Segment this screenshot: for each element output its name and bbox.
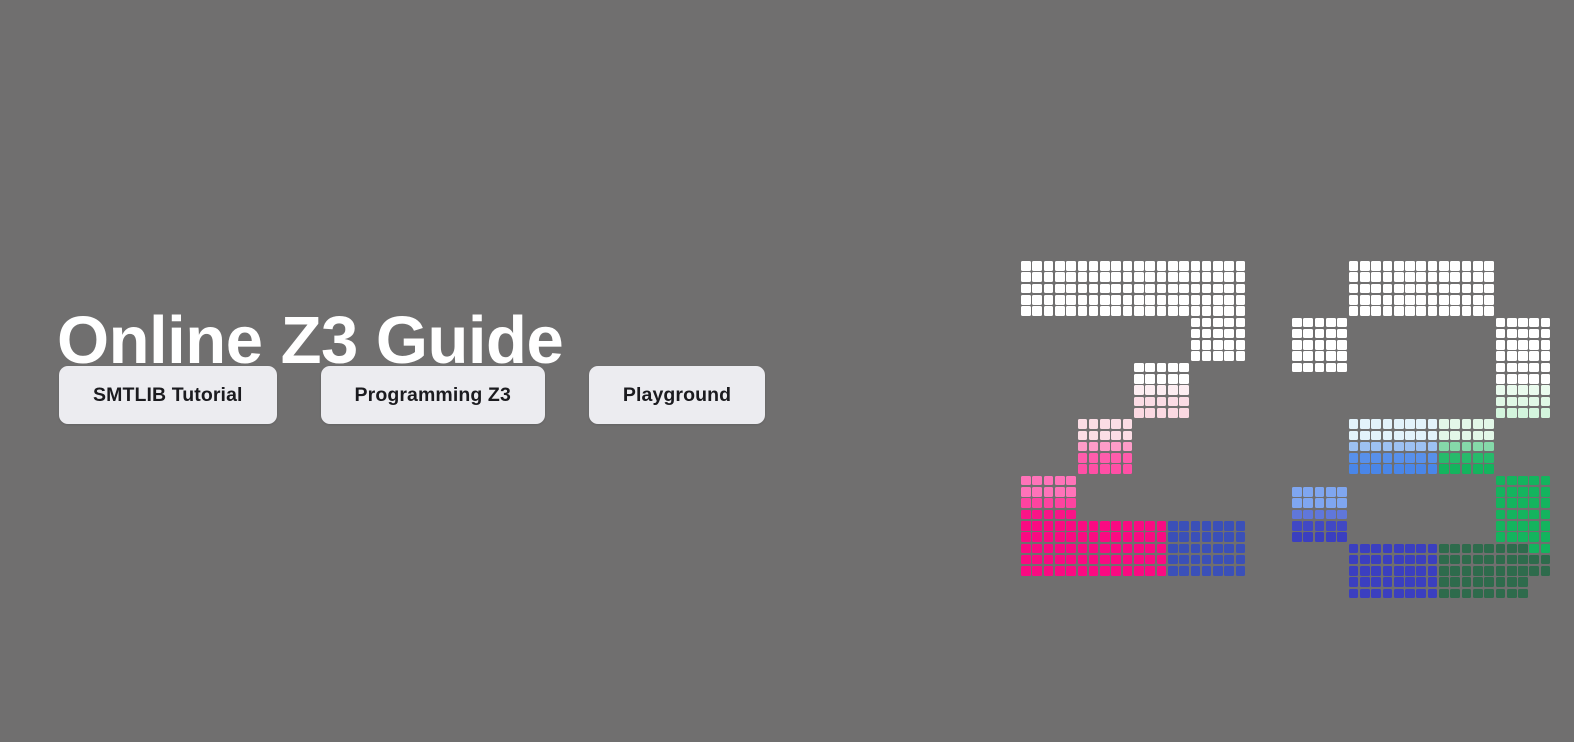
logo-pixel (1360, 295, 1370, 305)
logo-pixel (1055, 498, 1065, 508)
logo-pixel (1428, 544, 1438, 554)
logo-pixel (1078, 464, 1088, 474)
programming-z3-button-label: Programming Z3 (355, 384, 511, 407)
logo-pixel (1529, 544, 1539, 554)
logo-pixel (1224, 544, 1234, 554)
logo-pixel (1055, 295, 1065, 305)
logo-pixel (1541, 408, 1551, 418)
logo-pixel (1145, 295, 1155, 305)
logo-pixel (1496, 487, 1506, 497)
logo-pixel (1111, 555, 1121, 565)
logo-pixel (1507, 566, 1517, 576)
logo-pixel (1055, 272, 1065, 282)
logo-pixel (1462, 272, 1472, 282)
logo-pixel (1123, 442, 1133, 452)
logo-pixel (1111, 464, 1121, 474)
playground-button[interactable]: Playground (589, 366, 765, 424)
logo-pixel (1507, 544, 1517, 554)
logo-pixel (1416, 544, 1426, 554)
logo-pixel (1383, 544, 1393, 554)
logo-pixel (1507, 521, 1517, 531)
logo-pixel (1450, 306, 1460, 316)
logo-pixel (1496, 385, 1506, 395)
logo-pixel (1450, 295, 1460, 305)
logo-pixel (1100, 295, 1110, 305)
logo-pixel (1145, 532, 1155, 542)
logo-pixel (1529, 566, 1539, 576)
logo-pixel (1100, 464, 1110, 474)
logo-pixel (1518, 397, 1528, 407)
logo-pixel (1100, 306, 1110, 316)
logo-pixel (1541, 340, 1551, 350)
logo-pixel (1349, 464, 1359, 474)
logo-pixel (1473, 419, 1483, 429)
logo-pixel (1484, 453, 1494, 463)
logo-pixel (1496, 363, 1506, 373)
logo-pixel (1303, 351, 1313, 361)
logo-pixel (1507, 510, 1517, 520)
logo-pixel (1507, 498, 1517, 508)
logo-pixel (1394, 284, 1404, 294)
logo-pixel (1145, 272, 1155, 282)
logo-pixel (1484, 419, 1494, 429)
logo-pixel (1202, 532, 1212, 542)
logo-pixel (1529, 498, 1539, 508)
logo-pixel (1462, 464, 1472, 474)
logo-pixel (1518, 351, 1528, 361)
logo-pixel (1032, 295, 1042, 305)
logo-pixel (1360, 419, 1370, 429)
logo-pixel (1484, 566, 1494, 576)
logo-pixel (1496, 374, 1506, 384)
logo-pixel (1462, 589, 1472, 599)
logo-pixel (1089, 532, 1099, 542)
logo-pixel (1213, 295, 1223, 305)
logo-pixel (1541, 351, 1551, 361)
logo-pixel (1507, 577, 1517, 587)
logo-pixel (1484, 544, 1494, 554)
logo-pixel (1315, 351, 1325, 361)
logo-pixel (1462, 577, 1472, 587)
logo-pixel (1179, 521, 1189, 531)
logo-pixel (1134, 363, 1144, 373)
logo-pixel (1541, 318, 1551, 328)
logo-pixel (1066, 261, 1076, 271)
logo-pixel (1055, 487, 1065, 497)
logo-pixel (1224, 351, 1234, 361)
logo-pixel (1202, 329, 1212, 339)
logo-pixel (1541, 385, 1551, 395)
logo-pixel (1315, 521, 1325, 531)
logo-pixel (1416, 261, 1426, 271)
logo-pixel (1541, 329, 1551, 339)
logo-pixel (1100, 431, 1110, 441)
logo-pixel (1145, 521, 1155, 531)
logo-pixel (1518, 577, 1528, 587)
logo-pixel (1450, 577, 1460, 587)
logo-pixel (1360, 555, 1370, 565)
logo-pixel (1134, 408, 1144, 418)
logo-pixel (1529, 408, 1539, 418)
logo-pixel (1044, 532, 1054, 542)
logo-pixel (1032, 532, 1042, 542)
logo-pixel (1518, 487, 1528, 497)
logo-pixel (1066, 521, 1076, 531)
logo-pixel (1078, 555, 1088, 565)
logo-pixel (1428, 261, 1438, 271)
logo-pixel (1473, 589, 1483, 599)
logo-pixel (1518, 408, 1528, 418)
logo-pixel (1213, 329, 1223, 339)
logo-pixel (1326, 329, 1336, 339)
logo-pixel (1326, 340, 1336, 350)
logo-pixel (1044, 566, 1054, 576)
logo-pixel (1066, 566, 1076, 576)
logo-pixel (1529, 385, 1539, 395)
logo-pixel (1191, 261, 1201, 271)
logo-pixel (1450, 566, 1460, 576)
logo-pixel (1428, 577, 1438, 587)
logo-pixel (1371, 419, 1381, 429)
logo-pixel (1021, 566, 1031, 576)
logo-pixel (1541, 510, 1551, 520)
logo-pixel (1123, 419, 1133, 429)
logo-pixel (1484, 431, 1494, 441)
logo-pixel (1191, 544, 1201, 554)
logo-pixel (1179, 566, 1189, 576)
logo-pixel (1213, 521, 1223, 531)
logo-pixel (1518, 329, 1528, 339)
logo-pixel (1383, 589, 1393, 599)
logo-pixel (1078, 566, 1088, 576)
logo-pixel (1123, 566, 1133, 576)
logo-pixel (1405, 419, 1415, 429)
logo-pixel (1450, 442, 1460, 452)
logo-pixel (1292, 487, 1302, 497)
logo-pixel (1462, 566, 1472, 576)
logo-pixel (1292, 340, 1302, 350)
logo-pixel (1134, 272, 1144, 282)
logo-pixel (1383, 555, 1393, 565)
logo-pixel (1394, 295, 1404, 305)
logo-pixel (1315, 340, 1325, 350)
logo-pixel (1326, 318, 1336, 328)
logo-pixel (1191, 284, 1201, 294)
logo-pixel (1507, 363, 1517, 373)
logo-pixel (1450, 431, 1460, 441)
logo-pixel (1450, 261, 1460, 271)
logo-pixel (1213, 318, 1223, 328)
logo-pixel (1179, 261, 1189, 271)
logo-pixel (1066, 306, 1076, 316)
logo-pixel (1123, 306, 1133, 316)
logo-pixel (1360, 544, 1370, 554)
logo-pixel (1439, 419, 1449, 429)
logo-pixel (1303, 510, 1313, 520)
hero-button-row: SMTLIB Tutorial Programming Z3 Playgroun… (59, 366, 765, 424)
logo-pixel (1405, 431, 1415, 441)
logo-pixel (1134, 295, 1144, 305)
logo-pixel (1360, 589, 1370, 599)
logo-pixel (1157, 385, 1167, 395)
logo-pixel (1529, 351, 1539, 361)
logo-pixel (1179, 295, 1189, 305)
logo-pixel (1066, 510, 1076, 520)
logo-pixel (1236, 272, 1246, 282)
logo-pixel (1518, 544, 1528, 554)
logo-pixel (1123, 284, 1133, 294)
logo-pixel (1191, 351, 1201, 361)
logo-pixel (1044, 295, 1054, 305)
logo-pixel (1111, 532, 1121, 542)
logo-pixel (1383, 261, 1393, 271)
logo-pixel (1111, 261, 1121, 271)
logo-pixel (1157, 363, 1167, 373)
logo-pixel (1066, 284, 1076, 294)
logo-pixel (1044, 487, 1054, 497)
logo-pixel (1123, 431, 1133, 441)
logo-pixel (1032, 261, 1042, 271)
logo-pixel (1168, 555, 1178, 565)
logo-pixel (1518, 318, 1528, 328)
logo-pixel (1360, 306, 1370, 316)
logo-pixel (1371, 544, 1381, 554)
logo-pixel (1439, 442, 1449, 452)
logo-pixel (1473, 577, 1483, 587)
logo-pixel (1168, 272, 1178, 282)
logo-pixel (1315, 487, 1325, 497)
logo-pixel (1383, 464, 1393, 474)
logo-pixel (1134, 306, 1144, 316)
logo-pixel (1462, 431, 1472, 441)
logo-pixel (1078, 442, 1088, 452)
logo-pixel (1078, 272, 1088, 282)
logo-pixel (1337, 351, 1347, 361)
logo-pixel (1462, 442, 1472, 452)
logo-pixel (1032, 555, 1042, 565)
logo-pixel (1428, 284, 1438, 294)
logo-pixel (1032, 306, 1042, 316)
logo-pixel (1371, 284, 1381, 294)
logo-pixel (1496, 498, 1506, 508)
programming-z3-button[interactable]: Programming Z3 (321, 366, 545, 424)
logo-pixel (1416, 306, 1426, 316)
logo-pixel (1529, 340, 1539, 350)
logo-pixel (1529, 363, 1539, 373)
logo-pixel (1213, 340, 1223, 350)
logo-pixel (1157, 306, 1167, 316)
logo-pixel (1439, 577, 1449, 587)
logo-pixel (1326, 521, 1336, 531)
logo-pixel (1224, 555, 1234, 565)
logo-pixel (1055, 510, 1065, 520)
logo-pixel (1428, 589, 1438, 599)
logo-pixel (1089, 295, 1099, 305)
logo-pixel (1078, 453, 1088, 463)
logo-pixel (1111, 544, 1121, 554)
logo-pixel (1111, 566, 1121, 576)
logo-pixel (1462, 261, 1472, 271)
logo-pixel (1484, 555, 1494, 565)
logo-pixel (1066, 295, 1076, 305)
logo-pixel (1179, 374, 1189, 384)
logo-pixel (1021, 521, 1031, 531)
logo-pixel (1123, 261, 1133, 271)
logo-pixel (1044, 510, 1054, 520)
logo-pixel (1360, 284, 1370, 294)
logo-pixel (1428, 431, 1438, 441)
logo-pixel (1541, 555, 1551, 565)
logo-pixel (1383, 272, 1393, 282)
logo-pixel (1157, 284, 1167, 294)
logo-pixel (1179, 272, 1189, 282)
logo-pixel (1066, 544, 1076, 554)
logo-pixel (1055, 521, 1065, 531)
logo-pixel (1292, 532, 1302, 542)
logo-pixel (1292, 521, 1302, 531)
logo-pixel (1100, 442, 1110, 452)
logo-pixel (1473, 442, 1483, 452)
logo-pixel (1134, 374, 1144, 384)
logo-pixel (1337, 521, 1347, 531)
logo-pixel (1179, 284, 1189, 294)
logo-pixel (1371, 555, 1381, 565)
logo-pixel (1349, 566, 1359, 576)
logo-pixel (1450, 589, 1460, 599)
logo-pixel (1371, 306, 1381, 316)
logo-pixel (1202, 566, 1212, 576)
logo-pixel (1541, 566, 1551, 576)
logo-pixel (1191, 532, 1201, 542)
logo-pixel (1473, 431, 1483, 441)
logo-pixel (1383, 453, 1393, 463)
logo-pixel (1168, 261, 1178, 271)
logo-pixel (1123, 555, 1133, 565)
logo-pixel (1032, 476, 1042, 486)
logo-pixel (1371, 577, 1381, 587)
logo-pixel (1168, 284, 1178, 294)
logo-pixel (1202, 261, 1212, 271)
smtlib-tutorial-button[interactable]: SMTLIB Tutorial (59, 366, 277, 424)
logo-pixel (1202, 306, 1212, 316)
logo-pixel (1416, 577, 1426, 587)
logo-pixel (1044, 555, 1054, 565)
logo-pixel (1507, 340, 1517, 350)
logo-pixel (1541, 532, 1551, 542)
logo-pixel (1394, 306, 1404, 316)
logo-pixel (1496, 577, 1506, 587)
logo-pixel (1529, 374, 1539, 384)
logo-pixel (1078, 521, 1088, 531)
logo-pixel (1032, 487, 1042, 497)
logo-pixel (1157, 374, 1167, 384)
logo-pixel (1021, 306, 1031, 316)
logo-pixel (1496, 397, 1506, 407)
logo-pixel (1100, 261, 1110, 271)
logo-pixel (1337, 510, 1347, 520)
logo-pixel (1371, 453, 1381, 463)
logo-pixel (1191, 340, 1201, 350)
logo-pixel (1055, 306, 1065, 316)
logo-pixel (1383, 566, 1393, 576)
logo-pixel (1213, 555, 1223, 565)
logo-pixel (1191, 306, 1201, 316)
logo-pixel (1349, 431, 1359, 441)
logo-pixel (1191, 566, 1201, 576)
logo-pixel (1021, 544, 1031, 554)
logo-pixel (1371, 464, 1381, 474)
logo-pixel (1021, 555, 1031, 565)
logo-pixel (1326, 351, 1336, 361)
logo-pixel (1507, 476, 1517, 486)
logo-pixel (1044, 498, 1054, 508)
logo-pixel (1496, 521, 1506, 531)
logo-pixel (1473, 261, 1483, 271)
logo-pixel (1496, 510, 1506, 520)
logo-pixel (1337, 532, 1347, 542)
logo-pixel (1315, 318, 1325, 328)
logo-pixel (1462, 284, 1472, 294)
logo-pixel (1349, 589, 1359, 599)
logo-pixel (1292, 329, 1302, 339)
logo-pixel (1021, 261, 1031, 271)
logo-pixel (1213, 532, 1223, 542)
page-title: Online Z3 Guide (57, 307, 563, 374)
logo-pixel (1473, 295, 1483, 305)
logo-pixel (1202, 351, 1212, 361)
logo-pixel (1473, 453, 1483, 463)
logo-pixel (1168, 306, 1178, 316)
logo-pixel (1213, 566, 1223, 576)
logo-pixel (1224, 566, 1234, 576)
logo-pixel (1349, 272, 1359, 282)
logo-pixel (1462, 544, 1472, 554)
logo-pixel (1439, 272, 1449, 282)
logo-pixel (1168, 521, 1178, 531)
logo-pixel (1032, 521, 1042, 531)
logo-pixel (1134, 385, 1144, 395)
logo-pixel (1168, 385, 1178, 395)
logo-pixel (1529, 397, 1539, 407)
logo-pixel (1089, 453, 1099, 463)
logo-pixel (1168, 408, 1178, 418)
logo-pixel (1394, 555, 1404, 565)
logo-pixel (1428, 464, 1438, 474)
logo-pixel (1145, 544, 1155, 554)
logo-pixel (1157, 272, 1167, 282)
logo-pixel (1100, 555, 1110, 565)
logo-pixel (1303, 498, 1313, 508)
logo-pixel (1349, 295, 1359, 305)
logo-pixel (1021, 295, 1031, 305)
logo-pixel (1089, 272, 1099, 282)
logo-pixel (1168, 397, 1178, 407)
logo-pixel (1416, 431, 1426, 441)
logo-pixel (1224, 318, 1234, 328)
logo-pixel (1224, 261, 1234, 271)
logo-pixel (1236, 544, 1246, 554)
logo-pixel (1168, 544, 1178, 554)
logo-pixel (1518, 521, 1528, 531)
logo-pixel (1224, 329, 1234, 339)
logo-pixel (1518, 589, 1528, 599)
logo-pixel (1123, 521, 1133, 531)
logo-pixel (1213, 306, 1223, 316)
logo-pixel (1202, 295, 1212, 305)
logo-pixel (1078, 544, 1088, 554)
logo-pixel (1145, 306, 1155, 316)
logo-pixel (1496, 476, 1506, 486)
